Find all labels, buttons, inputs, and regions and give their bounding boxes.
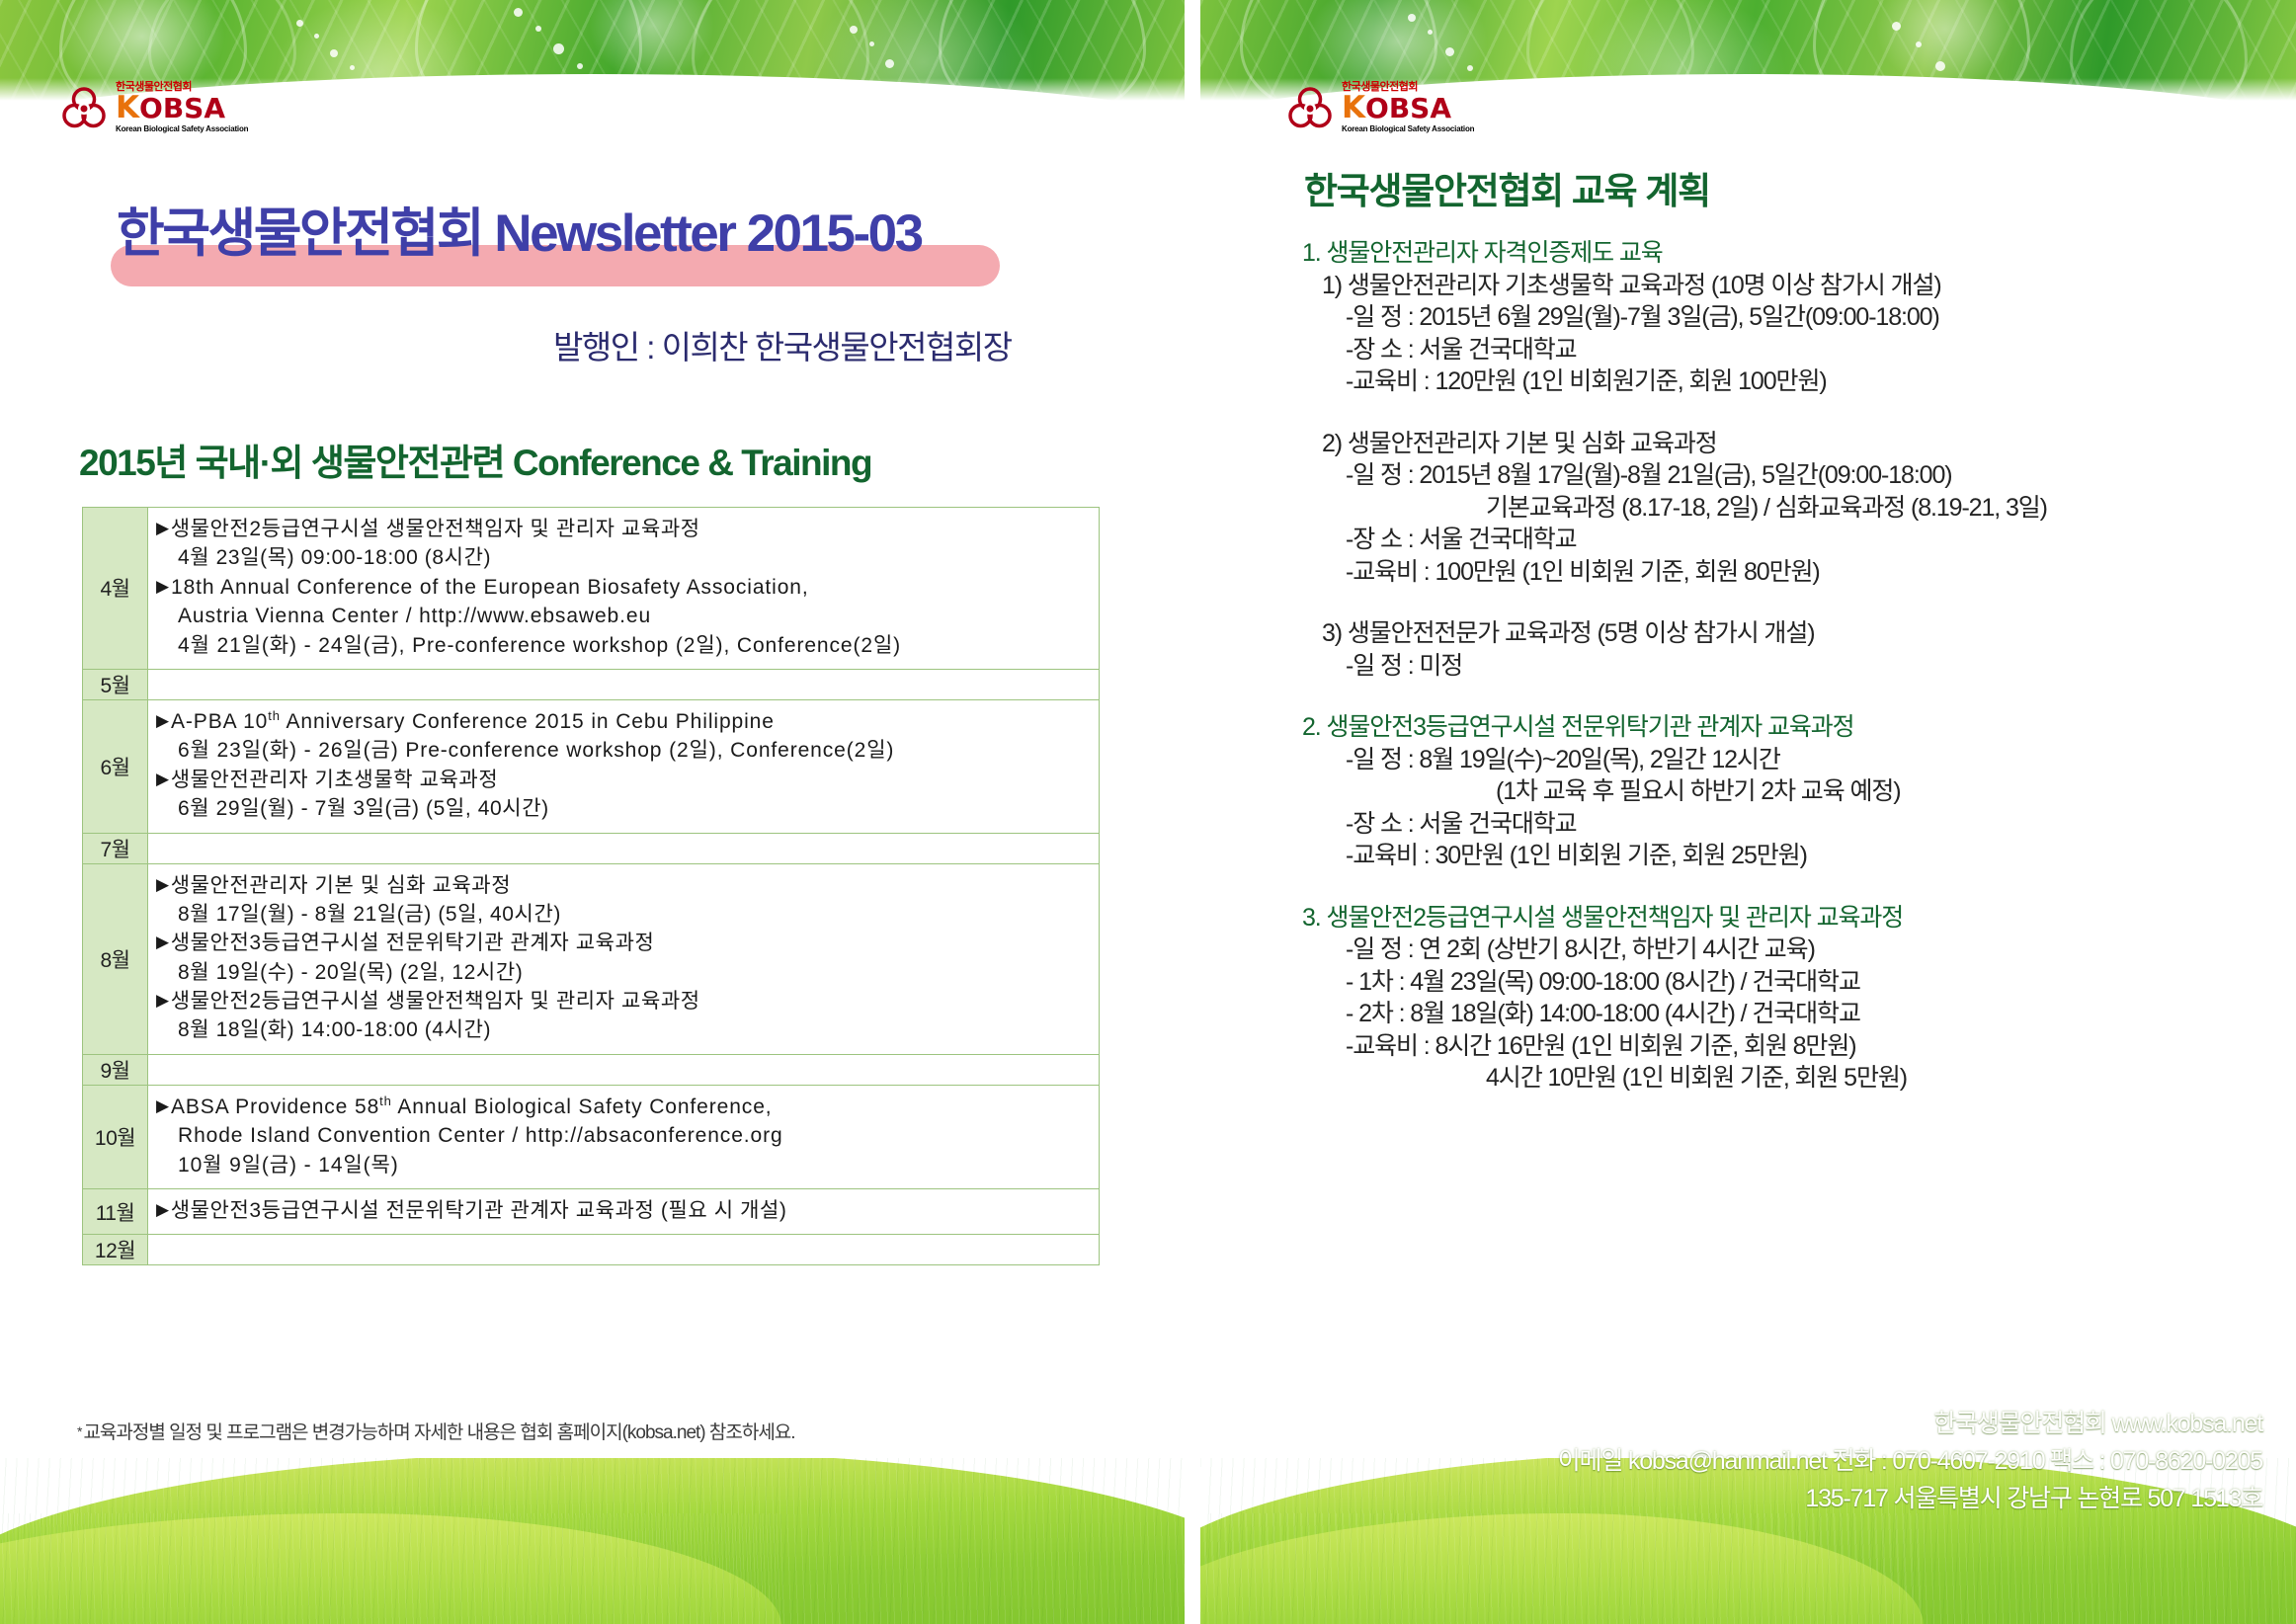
bottom-grass-left <box>0 1458 1185 1624</box>
training-plan-list: 1. 생물안전관리자 자격인증제도 교육1) 생물안전관리자 기초생물학 교육과… <box>1302 237 2251 1095</box>
logo-subtitle: Korean Biological Safety Association <box>116 125 248 133</box>
plan-detail-line: -교육비 : 30만원 (1인 비회원 기준, 회원 25만원) <box>1302 840 2251 872</box>
plan-detail-line: -일 정 : 8월 19일(수)~20일(목), 2일간 12시간 <box>1302 744 2251 776</box>
month-cell: 9월 <box>83 1054 148 1085</box>
newsletter-title-block: 한국생물안전협회 Newsletter 2015-03 <box>117 207 922 260</box>
logo-wordmark: KOBSA <box>1342 93 1474 123</box>
publisher-line: 발행인 : 이희찬 한국생물안전협회장 <box>553 321 1012 368</box>
month-cell: 10월 <box>83 1085 148 1188</box>
schedule-table: 4월▶생물안전2등급연구시설 생물안전책임자 및 관리자 교육과정4월 23일(… <box>82 507 1100 1265</box>
logo-letters-obsa: OBSA <box>1365 92 1451 124</box>
plan-detail-line: (1차 교육 후 필요시 하반기 2차 교육 예정) <box>1302 775 2251 808</box>
plan-detail-line: - 2차 : 8월 18일(화) 14:00-18:00 (4시간) / 건국대… <box>1302 998 2251 1030</box>
month-cell: 12월 <box>83 1235 148 1265</box>
logo-wordmark: KOBSA <box>116 93 248 123</box>
month-events-cell <box>148 1054 1100 1085</box>
spacer <box>1302 588 2251 617</box>
plan-detail-line: 2) 생물안전관리자 기본 및 심화 교육과정 <box>1302 428 2251 460</box>
event-detail-line: 6월 29일(월) - 7월 3일(금) (5일, 40시간) <box>156 794 1089 823</box>
event-detail-line: 8월 19일(수) - 20일(목) (2일, 12시간) <box>156 958 1089 987</box>
bullet-triangle-icon: ▶ <box>156 711 170 730</box>
bullet-triangle-icon: ▶ <box>156 933 170 951</box>
event-title-line: ▶A-PBA 10th Anniversary Conference 2015 … <box>156 707 1089 736</box>
month-cell: 11월 <box>83 1189 148 1235</box>
event-detail-line: 6월 23일(화) - 26일(금) Pre-conference worksh… <box>156 736 1089 765</box>
bullet-triangle-icon: ▶ <box>156 577 170 596</box>
footer-email-phone: 이메일 kobsa@hanmail.net 전화 : 070-4607-2910… <box>1558 1442 2262 1480</box>
spacer <box>1302 682 2251 711</box>
spacer <box>1302 872 2251 902</box>
event-detail-line: 4월 21일(화) - 24일(금), Pre-conference works… <box>156 631 1089 660</box>
plan-detail-line: 기본교육과정 (8.17-18, 2일) / 심화교육과정 (8.19-21, … <box>1302 492 2251 525</box>
page-left: 한국생물안전협회 KOBSA Korean Biological Safety … <box>0 0 1185 1624</box>
table-row: 9월 <box>83 1054 1100 1085</box>
contact-footer: 한국생물안전협회 www.kobsa.net 이메일 kobsa@hanmail… <box>1558 1405 2262 1517</box>
table-row: 4월▶생물안전2등급연구시설 생물안전책임자 및 관리자 교육과정4월 23일(… <box>83 508 1100 670</box>
event-title-line: ▶생물안전2등급연구시설 생물안전책임자 및 관리자 교육과정 <box>156 515 1089 543</box>
month-cell: 7월 <box>83 833 148 863</box>
plan-detail-line: -장 소 : 서울 건국대학교 <box>1302 334 2251 366</box>
table-row: 8월▶생물안전관리자 기본 및 심화 교육과정8월 17일(월) - 8월 21… <box>83 863 1100 1054</box>
logo-letter-k: K <box>116 90 139 125</box>
table-row: 6월▶A-PBA 10th Anniversary Conference 201… <box>83 699 1100 833</box>
event-detail-line: 8월 17일(월) - 8월 21일(금) (5일, 40시간) <box>156 900 1089 929</box>
plan-detail-line: -일 정 : 연 2회 (상반기 8시간, 하반기 4시간 교육) <box>1302 934 2251 966</box>
event-detail-line: 8월 18일(화) 14:00-18:00 (4시간) <box>156 1015 1089 1044</box>
plan-detail-line: -교육비 : 120만원 (1인 비회원기준, 회원 100만원) <box>1302 365 2251 398</box>
plan-heading: 1. 생물안전관리자 자격인증제도 교육 <box>1302 237 2251 270</box>
plan-detail-line: -장 소 : 서울 건국대학교 <box>1302 808 2251 841</box>
event-title-line: ▶ABSA Providence 58th Annual Biological … <box>156 1093 1089 1121</box>
month-events-cell: ▶ABSA Providence 58th Annual Biological … <box>148 1085 1100 1188</box>
bullet-triangle-icon: ▶ <box>156 1096 170 1115</box>
plan-detail-line: -일 정 : 2015년 8월 17일(월)-8월 21일(금), 5일간(09… <box>1302 459 2251 492</box>
month-events-cell: ▶생물안전3등급연구시설 전문위탁기관 관계자 교육과정 (필요 시 개설) <box>148 1189 1100 1235</box>
month-cell: 4월 <box>83 508 148 670</box>
plan-heading: 3. 생물안전2등급연구시설 생물안전책임자 및 관리자 교육과정 <box>1302 902 2251 934</box>
spacer <box>1302 398 2251 428</box>
schedule-footnote: *교육과정별 일정 및 프로그램은 변경가능하며 자세한 내용은 협회 홈페이지… <box>77 1418 795 1444</box>
plan-detail-line: 1) 생물안전관리자 기초생물학 교육과정 (10명 이상 참가시 개설) <box>1302 270 2251 302</box>
biohazard-icon <box>1285 83 1335 132</box>
month-events-cell: ▶A-PBA 10th Anniversary Conference 2015 … <box>148 699 1100 833</box>
page-gutter <box>1185 0 1200 1624</box>
plan-detail-line: 4시간 10만원 (1인 비회원 기준, 회원 5만원) <box>1302 1062 2251 1095</box>
biohazard-icon <box>59 83 109 132</box>
schedule-table-body: 4월▶생물안전2등급연구시설 생물안전책임자 및 관리자 교육과정4월 23일(… <box>83 508 1100 1265</box>
footer-website: 한국생물안전협회 www.kobsa.net <box>1558 1405 2262 1442</box>
plan-detail-line: -교육비 : 8시간 16만원 (1인 비회원 기준, 회원 8만원) <box>1302 1030 2251 1063</box>
plan-detail-line: -일 정 : 2015년 6월 29일(월)-7월 3일(금), 5일간(09:… <box>1302 301 2251 334</box>
month-events-cell <box>148 669 1100 699</box>
conference-section-title: 2015년 국내·외 생물안전관련 Conference & Training <box>79 433 871 486</box>
logo-letters-obsa: OBSA <box>139 92 225 124</box>
plan-detail-line: -일 정 : 미정 <box>1302 650 2251 683</box>
event-detail-line: Rhode Island Convention Center / http://… <box>156 1121 1089 1150</box>
footer-address: 135-717 서울특별시 강남구 논현로 507 1513호 <box>1558 1480 2262 1517</box>
event-title-line: ▶생물안전관리자 기본 및 심화 교육과정 <box>156 871 1089 900</box>
table-row: 7월 <box>83 833 1100 863</box>
event-title-line: ▶생물안전3등급연구시설 전문위탁기관 관계자 교육과정 (필요 시 개설) <box>156 1196 1089 1225</box>
event-title-line: ▶18th Annual Conference of the European … <box>156 573 1089 602</box>
month-events-cell: ▶생물안전관리자 기본 및 심화 교육과정8월 17일(월) - 8월 21일(… <box>148 863 1100 1054</box>
month-events-cell <box>148 1235 1100 1265</box>
logo-subtitle: Korean Biological Safety Association <box>1342 125 1474 133</box>
plan-detail-line: -교육비 : 100만원 (1인 비회원 기준, 회원 80만원) <box>1302 556 2251 589</box>
event-detail-line: 4월 23일(목) 09:00-18:00 (8시간) <box>156 543 1089 572</box>
event-detail-line: Austria Vienna Center / http://www.ebsaw… <box>156 602 1089 630</box>
bullet-triangle-icon: ▶ <box>156 991 170 1010</box>
event-title-line: ▶생물안전3등급연구시설 전문위탁기관 관계자 교육과정 <box>156 929 1089 957</box>
month-events-cell: ▶생물안전2등급연구시설 생물안전책임자 및 관리자 교육과정4월 23일(목)… <box>148 508 1100 670</box>
month-cell: 6월 <box>83 699 148 833</box>
newsletter-spread: 한국생물안전협회 KOBSA Korean Biological Safety … <box>0 0 2296 1624</box>
footnote-star: * <box>77 1423 81 1439</box>
footnote-text: 교육과정별 일정 및 프로그램은 변경가능하며 자세한 내용은 협회 홈페이지(… <box>83 1422 794 1443</box>
bullet-triangle-icon: ▶ <box>156 875 170 894</box>
plan-detail-line: - 1차 : 4월 23일(목) 09:00-18:00 (8시간) / 건국대… <box>1302 966 2251 999</box>
table-row: 10월▶ABSA Providence 58th Annual Biologic… <box>83 1085 1100 1188</box>
logo-letter-k: K <box>1342 90 1365 125</box>
plan-detail-line: 3) 생물안전전문가 교육과정 (5명 이상 참가시 개설) <box>1302 617 2251 650</box>
month-cell: 5월 <box>83 669 148 699</box>
kobsa-logo: 한국생물안전협회 KOBSA Korean Biological Safety … <box>59 82 248 133</box>
month-events-cell <box>148 833 1100 863</box>
plan-detail-line: -장 소 : 서울 건국대학교 <box>1302 524 2251 556</box>
table-row: 12월 <box>83 1235 1100 1265</box>
bullet-triangle-icon: ▶ <box>156 770 170 788</box>
plan-heading: 2. 생물안전3등급연구시설 전문위탁기관 관계자 교육과정 <box>1302 711 2251 744</box>
month-cell: 8월 <box>83 863 148 1054</box>
bullet-triangle-icon: ▶ <box>156 519 170 537</box>
bullet-triangle-icon: ▶ <box>156 1200 170 1219</box>
table-row: 5월 <box>83 669 1100 699</box>
table-row: 11월▶생물안전3등급연구시설 전문위탁기관 관계자 교육과정 (필요 시 개설… <box>83 1189 1100 1235</box>
kobsa-logo-right: 한국생물안전협회 KOBSA Korean Biological Safety … <box>1285 82 1474 133</box>
training-plan-title: 한국생물안전협회 교육 계획 <box>1304 161 1710 214</box>
newsletter-title: 한국생물안전협회 Newsletter 2015-03 <box>117 207 922 260</box>
page-right: 한국생물안전협회 KOBSA Korean Biological Safety … <box>1200 0 2296 1624</box>
event-title-line: ▶생물안전2등급연구시설 생물안전책임자 및 관리자 교육과정 <box>156 987 1089 1015</box>
event-detail-line: 10월 9일(금) - 14일(목) <box>156 1151 1089 1179</box>
event-title-line: ▶생물안전관리자 기초생물학 교육과정 <box>156 766 1089 794</box>
